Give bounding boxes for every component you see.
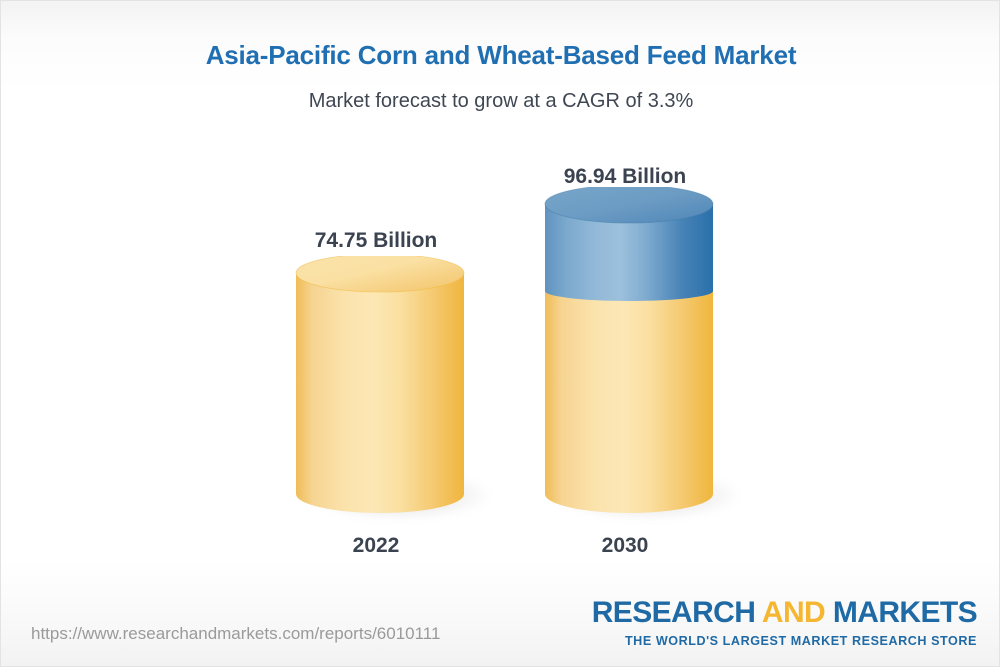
cylinder-2030-svg — [541, 187, 717, 524]
bar-value-label-2030: 96.94 Billion — [541, 165, 709, 189]
bar-cylinder-2030 — [541, 187, 717, 529]
bar-category-label-2030: 2030 — [541, 534, 709, 558]
logo-wordmark: RESEARCH AND MARKETS — [592, 598, 977, 628]
chart-canvas: Asia-Pacific Corn and Wheat-Based Feed M… — [0, 0, 1000, 667]
logo-word-research: RESEARCH — [592, 596, 762, 629]
research-and-markets-logo[interactable]: RESEARCH AND MARKETS THE WORLD'S LARGEST… — [592, 598, 977, 648]
bar-value-label-2022: 74.75 Billion — [292, 229, 460, 253]
cylinder-2022-svg — [292, 256, 468, 524]
logo-word-and: AND — [762, 596, 825, 629]
logo-word-markets: MARKETS — [825, 596, 977, 629]
report-url[interactable]: https://www.researchandmarkets.com/repor… — [31, 624, 440, 644]
bar-group-2030: 96.94 Billion — [541, 1, 709, 601]
bar-cylinder-2022 — [292, 256, 468, 529]
plot-area: 74.75 Billion — [1, 1, 1000, 601]
bar-group-2022: 74.75 Billion — [292, 1, 460, 601]
bar-category-label-2022: 2022 — [292, 534, 460, 558]
logo-tagline: THE WORLD'S LARGEST MARKET RESEARCH STOR… — [592, 635, 977, 648]
